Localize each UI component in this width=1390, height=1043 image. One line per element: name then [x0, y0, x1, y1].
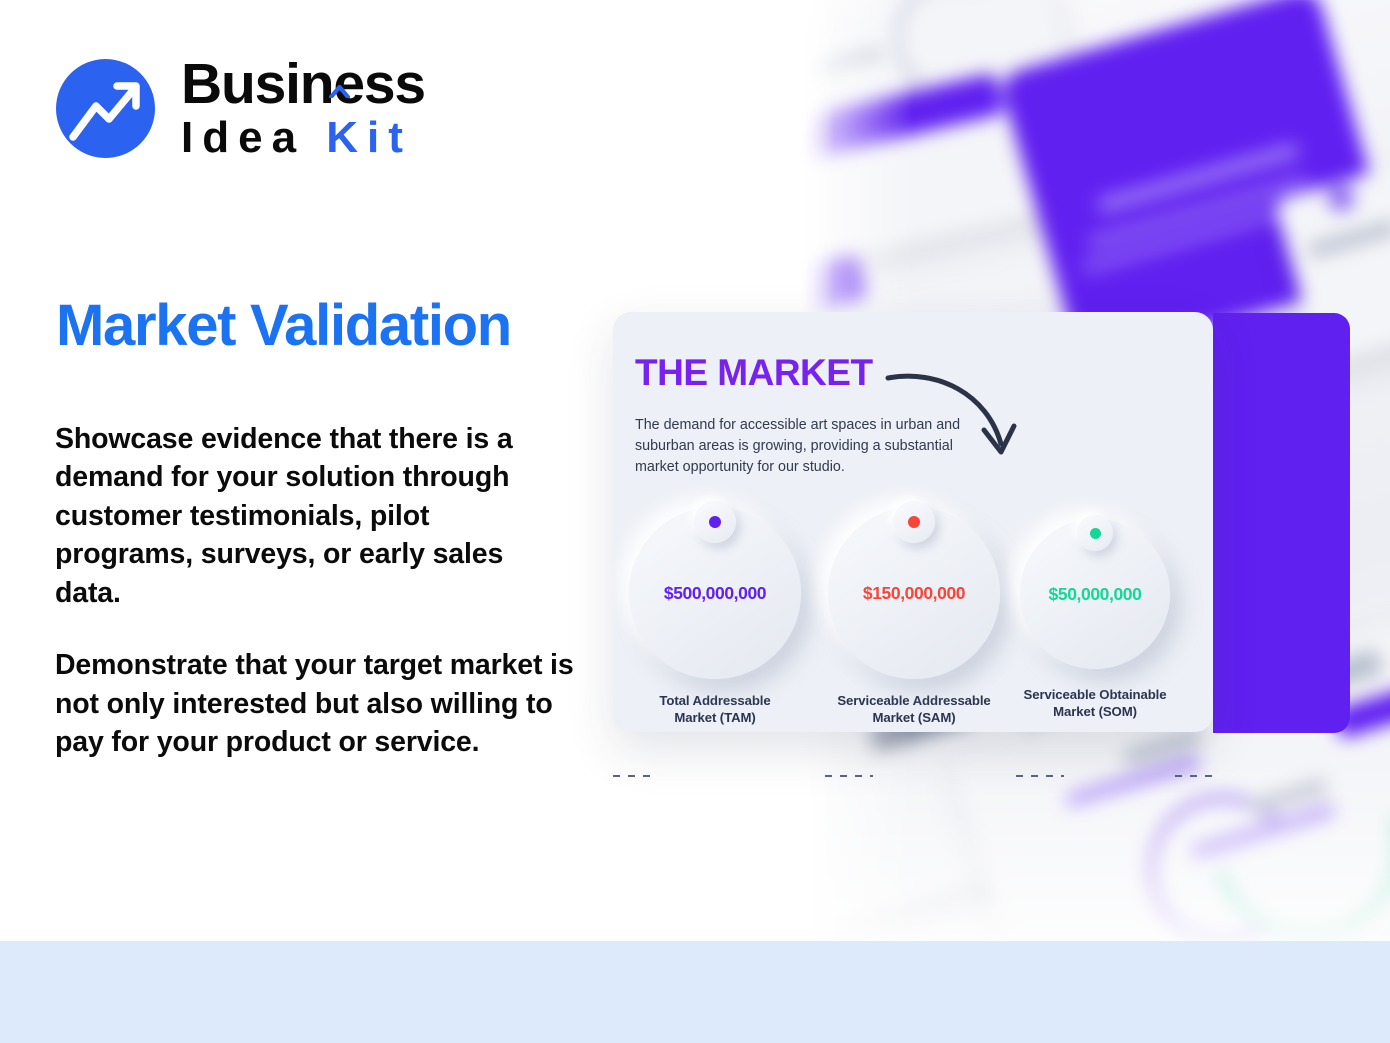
description-paragraph-1: Showcase evidence that there is a demand…	[55, 420, 575, 612]
metric-knob	[1077, 515, 1113, 551]
market-metrics-row: $500,000,000 Total Addressable Market (T…	[613, 507, 1213, 707]
purple-side-panel	[1213, 313, 1350, 733]
status-dot-icon	[1090, 528, 1101, 539]
dash-connector	[613, 775, 655, 777]
brand-name-kit: Kit	[326, 113, 412, 162]
status-dot-icon	[908, 516, 920, 528]
metric-som[interactable]: $50,000,000 Serviceable Obtainable Marke…	[1005, 507, 1185, 721]
metric-label: Total Addressable Market (TAM)	[625, 693, 805, 727]
brand-wordmark: Business Idea Kit	[181, 57, 425, 161]
metric-value: $50,000,000	[1049, 584, 1142, 605]
metric-label-line2: Market (TAM)	[674, 710, 755, 725]
metric-label-line1: Serviceable Obtainable	[1024, 687, 1167, 702]
metric-knob	[893, 501, 935, 543]
background-dot	[1328, 185, 1354, 211]
brand-name-business: Business	[181, 52, 425, 116]
metric-bubble: $500,000,000	[629, 507, 801, 679]
metric-value: $150,000,000	[863, 583, 965, 604]
market-card: THE MARKET The demand for accessible art…	[613, 312, 1213, 732]
brand-name-line1: Business	[181, 57, 425, 112]
description-paragraph-2: Demonstrate that your target market is n…	[55, 646, 575, 761]
footer-bar	[0, 941, 1390, 1043]
metric-label-line1: Total Addressable	[659, 693, 770, 708]
metric-tam[interactable]: $500,000,000 Total Addressable Market (T…	[625, 507, 805, 727]
dash-connector	[1175, 775, 1213, 777]
metric-knob	[694, 501, 736, 543]
metric-value: $500,000,000	[664, 583, 766, 604]
metric-label: Serviceable Addressable Market (SAM)	[824, 693, 1004, 727]
curved-arrow-down-icon	[883, 364, 1033, 474]
metric-label-line2: Market (SAM)	[872, 710, 955, 725]
brand-logo[interactable]: Business Idea Kit	[56, 57, 425, 161]
brand-name-line2: Idea Kit	[181, 115, 425, 161]
market-card-title: THE MARKET	[635, 352, 873, 394]
page-title: Market Validation	[56, 296, 511, 357]
metric-label-line2: Market (SOM)	[1053, 704, 1137, 719]
metric-label: Serviceable Obtainable Market (SOM)	[1005, 687, 1185, 721]
metric-bubble: $150,000,000	[828, 507, 1000, 679]
dash-connector	[1016, 775, 1064, 777]
trend-arrow-circle-icon	[56, 59, 155, 158]
description-block: Showcase evidence that there is a demand…	[55, 420, 575, 762]
metric-sam[interactable]: $150,000,000 Serviceable Addressable Mar…	[824, 507, 1004, 727]
status-dot-icon	[709, 516, 721, 528]
dash-connector	[825, 775, 873, 777]
slide-canvas: Business Idea Kit Market Validation Show…	[0, 0, 1390, 1043]
metric-bubble: $50,000,000	[1020, 519, 1170, 669]
caret-accent-icon	[329, 52, 350, 65]
brand-name-idea: Idea	[181, 113, 326, 162]
metric-label-line1: Serviceable Addressable	[837, 693, 990, 708]
